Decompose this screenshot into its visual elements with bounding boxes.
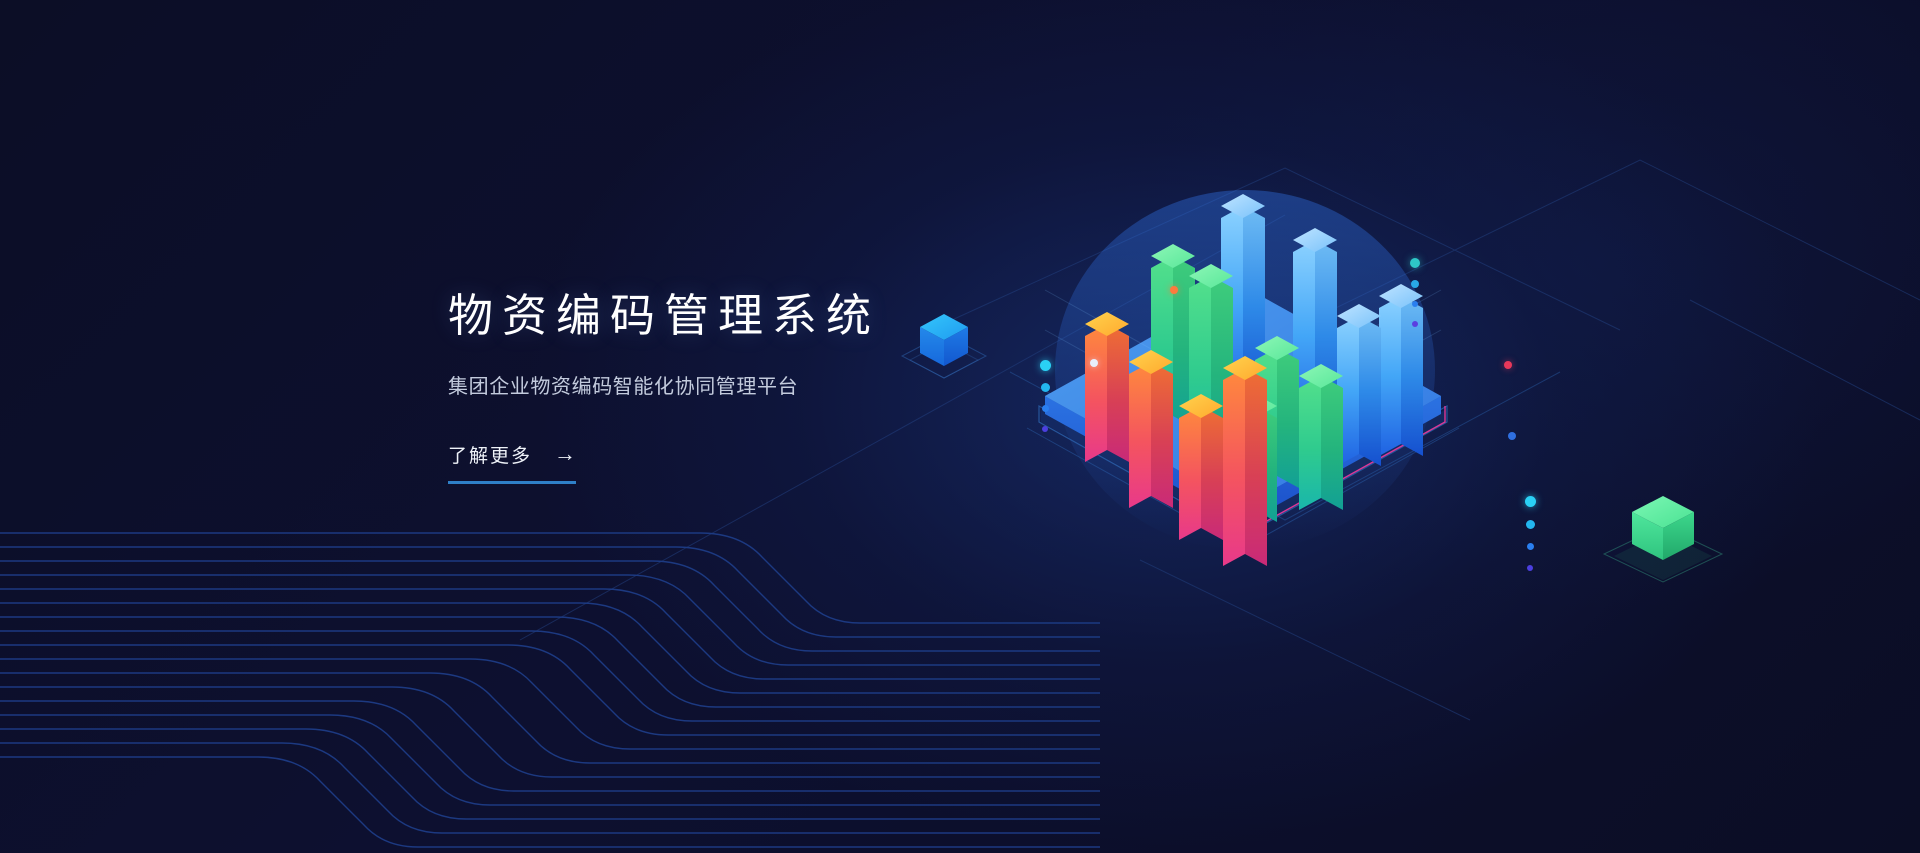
dot-column-left <box>1036 360 1054 432</box>
dot <box>1527 543 1534 550</box>
dot-column-upper-right <box>1406 258 1424 327</box>
bar-b4 <box>1179 394 1223 540</box>
bar-b10 <box>1299 364 1343 510</box>
isometric-bar-chart <box>1015 170 1475 590</box>
dot <box>1410 258 1420 268</box>
white-spark <box>1090 359 1098 367</box>
dot <box>1412 301 1418 307</box>
green-cube <box>1598 478 1728 598</box>
hero-banner: 物资编码管理系统 集团企业物资编码智能化协同管理平台 了解更多 → <box>0 0 1920 853</box>
arrow-right-icon: → <box>554 443 576 465</box>
bar-b2 <box>1129 350 1173 508</box>
bar-b1 <box>1085 312 1129 462</box>
dot <box>1526 520 1535 529</box>
dot <box>1042 405 1049 412</box>
red-spark <box>1504 361 1512 369</box>
dot <box>1042 426 1048 432</box>
dot <box>1411 280 1419 288</box>
dot <box>1412 321 1418 327</box>
dot <box>1040 360 1051 371</box>
bar-b6 <box>1223 356 1267 566</box>
learn-more-button[interactable]: 了解更多 → <box>448 441 576 484</box>
dot <box>1041 383 1050 392</box>
circuit-trace-pattern <box>0 523 1100 853</box>
blue-cube <box>898 300 990 392</box>
dot <box>1527 565 1533 571</box>
dot <box>1525 496 1536 507</box>
blue-spark <box>1508 432 1516 440</box>
dot-column-right <box>1521 496 1539 571</box>
orange-spark <box>1170 286 1178 294</box>
bar-b12 <box>1337 304 1381 466</box>
learn-more-label: 了解更多 <box>448 441 532 468</box>
